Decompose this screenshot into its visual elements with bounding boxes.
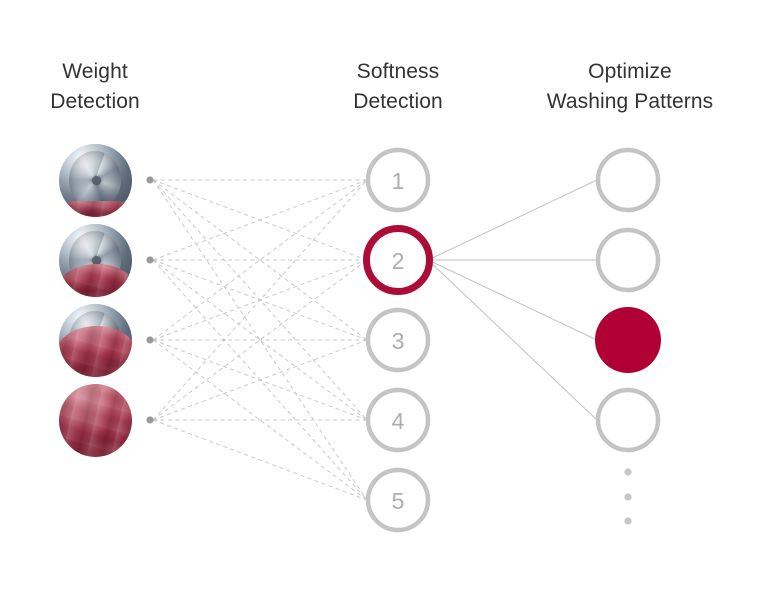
input-source-dot-4 xyxy=(146,416,153,423)
output-ellipsis-dots xyxy=(624,468,631,524)
hidden-node-label-4: 4 xyxy=(392,408,405,434)
input-thumbnail-3[interactable] xyxy=(59,304,132,377)
edge-input-hidden xyxy=(153,420,367,500)
output-ellipsis-dot-1 xyxy=(624,468,631,475)
input-thumbnail-4[interactable] xyxy=(59,384,132,457)
input-source-dots xyxy=(146,176,153,423)
edges-input-to-hidden xyxy=(153,180,367,500)
edge-hidden-output xyxy=(428,260,597,340)
output-node-3[interactable] xyxy=(595,307,661,373)
edges-hidden-to-output xyxy=(428,180,597,420)
hidden-node-label-2: 2 xyxy=(392,248,405,274)
fabric-graphic xyxy=(59,384,132,457)
input-source-dot-1 xyxy=(146,176,153,183)
output-node-1[interactable] xyxy=(598,150,658,210)
edge-hidden-output xyxy=(428,180,597,260)
fabric-graphic xyxy=(59,201,132,217)
output-layer-nodes xyxy=(595,150,661,450)
edge-input-hidden xyxy=(153,340,367,420)
input-source-dot-2 xyxy=(146,256,153,263)
fabric-graphic xyxy=(59,326,132,377)
hidden-node-label-1: 1 xyxy=(392,168,405,194)
edge-hidden-output xyxy=(428,260,597,420)
output-node-2[interactable] xyxy=(598,230,658,290)
hidden-layer-nodes: 12345 xyxy=(367,150,430,530)
input-source-dot-3 xyxy=(146,336,153,343)
output-node-4[interactable] xyxy=(598,390,658,450)
output-ellipsis-dot-3 xyxy=(624,517,631,524)
input-thumbnail-2[interactable] xyxy=(59,224,132,297)
hidden-node-label-5: 5 xyxy=(392,488,405,514)
input-thumbnail-1[interactable] xyxy=(59,144,132,217)
output-ellipsis-dot-2 xyxy=(624,493,631,500)
hidden-node-label-3: 3 xyxy=(392,328,405,354)
diagram-canvas: Weight Detection Softness Detection Opti… xyxy=(0,0,768,600)
edge-input-hidden xyxy=(153,180,367,260)
neural-network-graphic: 12345 xyxy=(0,0,768,600)
